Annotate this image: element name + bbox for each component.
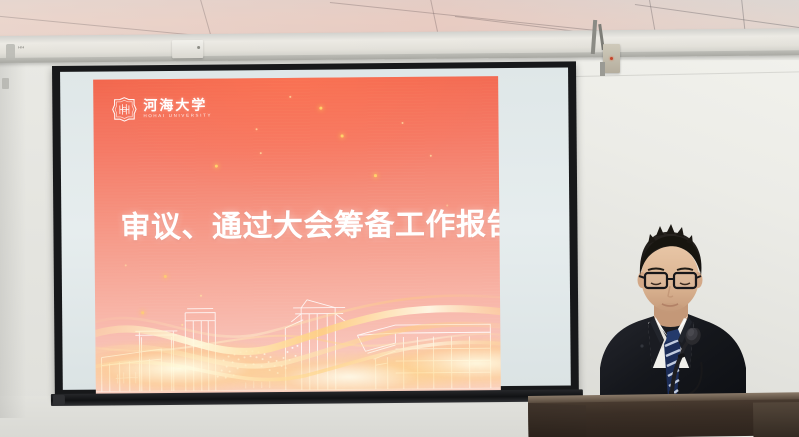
roller-mount-post (600, 62, 605, 76)
logo-name-cn: 河海大学 (143, 99, 212, 114)
roller-junction-box (172, 40, 203, 58)
projected-slide: 河海大学 HOHAI UNIVERSITY 审议、通过大会筹备工作报告 (93, 76, 501, 395)
motor-status-led (610, 57, 613, 60)
photo-scene: HH (0, 0, 799, 437)
logo-name-en: HOHAI UNIVERSITY (143, 114, 212, 119)
slide-title: 审议、通过大会筹备工作报告 (120, 209, 480, 244)
wall-bracket-left (2, 78, 9, 89)
roller-bracket-left (6, 44, 15, 60)
projection-screen: 河海大学 HOHAI UNIVERSITY 审议、通过大会筹备工作报告 (52, 61, 579, 397)
slide-logo: 河海大学 HOHAI UNIVERSITY (111, 96, 212, 123)
projection-screen-motor[interactable] (603, 44, 620, 73)
wall-shadow (0, 58, 26, 418)
podium (528, 396, 799, 437)
projection-screen-surface: 河海大学 HOHAI UNIVERSITY 审议、通过大会筹备工作报告 (60, 67, 571, 389)
roller-label-text: HH (18, 45, 25, 49)
campus-skyline-artwork (95, 276, 501, 395)
hohai-university-emblem-icon (111, 96, 137, 122)
